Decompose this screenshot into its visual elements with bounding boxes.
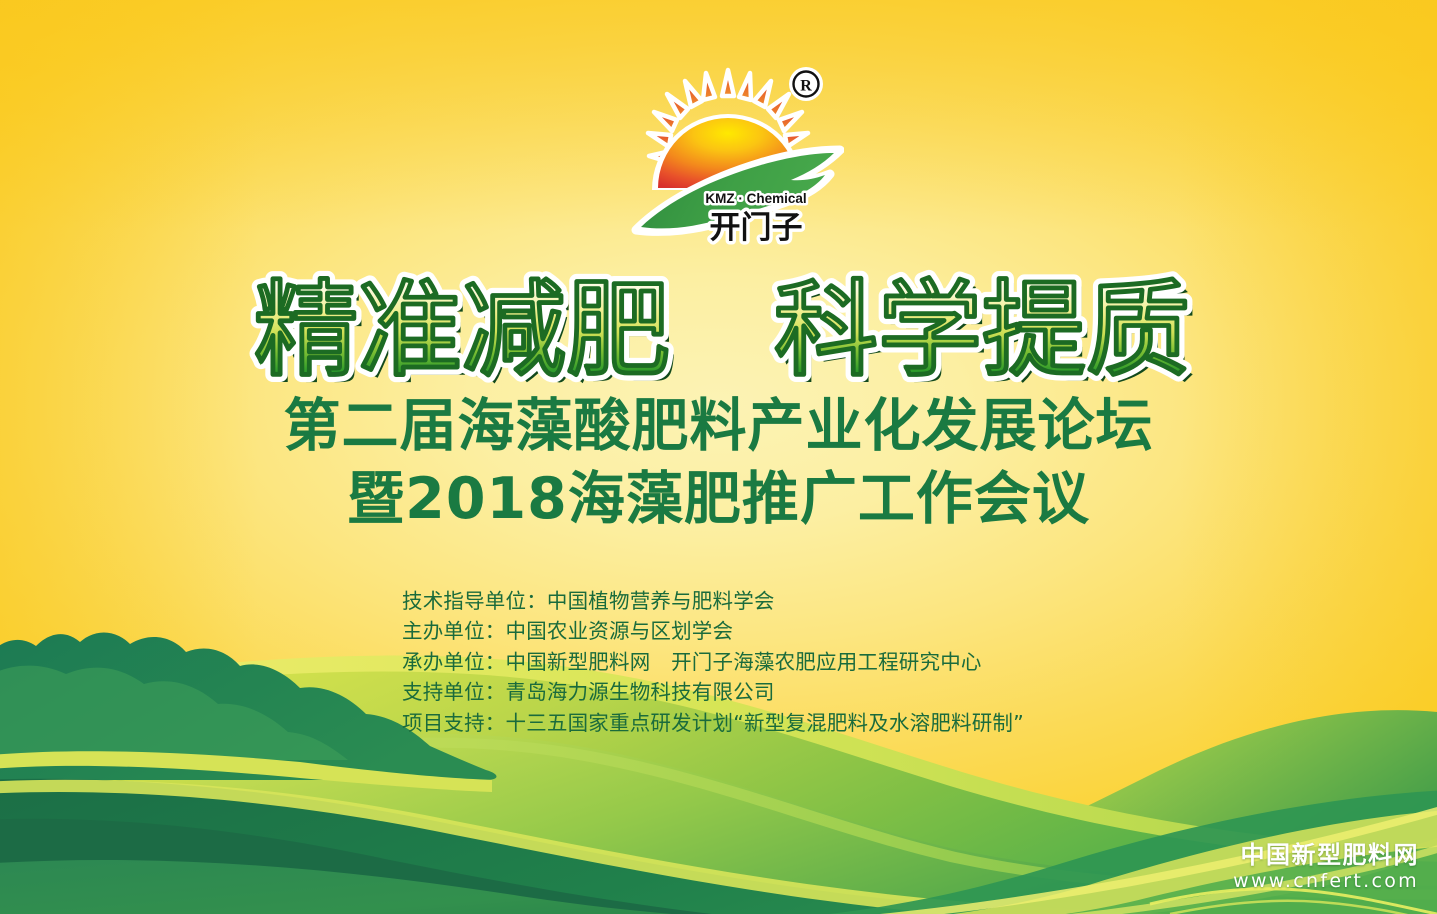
- headline: 精准减肥 科学提质 精准减肥 科学提质 精准减肥 科学提质: [0, 268, 1437, 390]
- credit-line-project-support: 项目支持：十三五国家重点研发计划“新型复混肥料及水溶肥料研制”: [402, 708, 1162, 738]
- credit-line-co-organizer: 承办单位：中国新型肥料网 开门子海藻农肥应用工程研究中心: [402, 647, 1162, 677]
- subtitle-line-1: 第二届海藻酸肥料产业化发展论坛: [0, 398, 1437, 455]
- brand-cn: 开门子: [710, 210, 803, 246]
- registered-mark-icon: R: [789, 67, 823, 101]
- subtitle-block: 第二届海藻酸肥料产业化发展论坛 暨2018海藻肥推广工作会议: [0, 398, 1437, 528]
- credits-block: 技术指导单位：中国植物营养与肥料学会 主办单位：中国农业资源与区划学会 承办单位…: [402, 586, 1162, 738]
- company-logo: R: [614, 62, 844, 247]
- poster-canvas: R: [0, 0, 1437, 914]
- watermark-url: www.cnfert.com: [1233, 871, 1419, 892]
- watermark-site-name: 中国新型肥料网: [1233, 842, 1419, 868]
- watermark: 中国新型肥料网 www.cnfert.com: [1233, 842, 1419, 892]
- subtitle-line-2: 暨2018海藻肥推广工作会议: [0, 471, 1437, 528]
- headline-fill: 精准减肥 科学提质: [253, 269, 1189, 390]
- credit-line-organizer: 主办单位：中国农业资源与区划学会: [402, 616, 1162, 646]
- svg-text:R: R: [800, 78, 812, 95]
- credit-line-technical-guidance: 技术指导单位：中国植物营养与肥料学会: [402, 586, 1162, 616]
- brand-latin: KMZ · Chemical: [705, 191, 806, 206]
- credit-line-supporter: 支持单位：青岛海力源生物科技有限公司: [402, 677, 1162, 707]
